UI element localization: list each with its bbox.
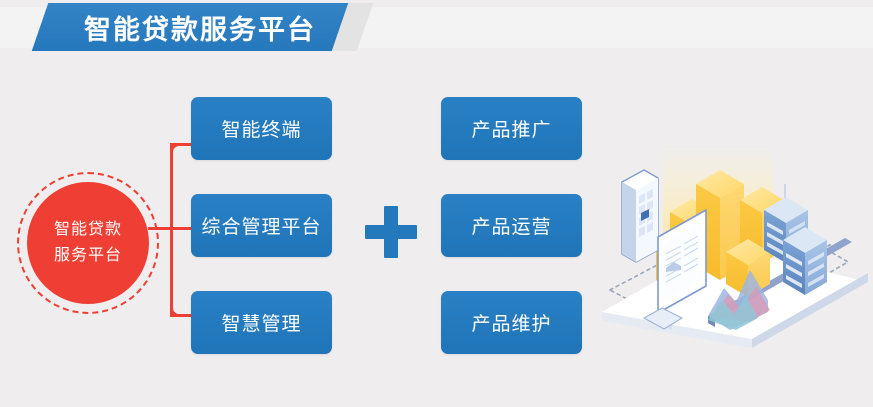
node-product-promotion[interactable]: 产品推广 [441, 97, 582, 160]
plus-vertical-bar [384, 206, 398, 258]
product-column: 产品推广 产品运营 产品维护 [441, 97, 582, 354]
platform-column: 智能终端 综合管理平台 智慧管理 [191, 97, 332, 354]
node-product-operation[interactable]: 产品运营 [441, 194, 582, 257]
node-integrated-management-platform[interactable]: 综合管理平台 [191, 194, 332, 257]
bracket-spine [170, 143, 173, 317]
node-smart-terminal[interactable]: 智能终端 [191, 97, 332, 160]
plus-operator [365, 206, 417, 258]
hub-label-line2: 服务平台 [54, 243, 122, 269]
hub-circle: 智能贷款 服务平台 [17, 172, 161, 316]
isometric-illustration [600, 140, 873, 350]
smartphone-icon [622, 170, 658, 262]
infographic-canvas: 智能贷款服务平台 智能贷款 服务平台 智能终端 综合管理平台 智慧管理 产品推广… [0, 0, 873, 407]
hub-label-line1: 智能贷款 [54, 217, 122, 243]
node-product-maintenance[interactable]: 产品维护 [441, 291, 582, 354]
header-banner: 智能贷款服务平台 [0, 0, 873, 55]
hub-core: 智能贷款 服务平台 [27, 182, 149, 304]
server-rack-icon [783, 227, 827, 295]
node-smart-management[interactable]: 智慧管理 [191, 291, 332, 354]
page-title: 智能贷款服务平台 [55, 4, 345, 50]
